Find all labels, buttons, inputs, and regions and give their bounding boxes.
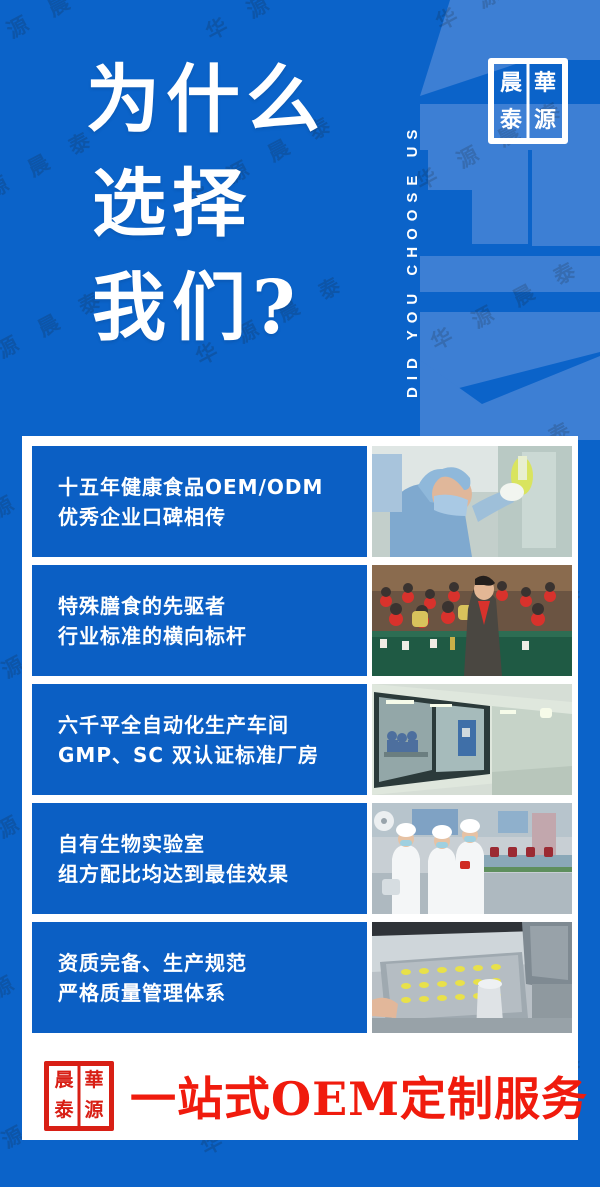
feature-card[interactable]: 特殊膳食的先驱者 行业标准的横向标杆: [32, 565, 572, 676]
hero-section: 为什么 选择 我们? DID YOU CHOOSE US 晨 華 泰 源: [0, 0, 600, 436]
feature-card-text: 资质完备、生产规范 严格质量管理体系: [32, 922, 367, 1033]
seal-char-chen: 晨: [494, 64, 528, 101]
seal-char-yuan: 源: [79, 1096, 109, 1126]
seal-char-hua: 華: [79, 1066, 109, 1096]
feature-card[interactable]: 自有生物实验室 组方配比均达到最佳效果: [32, 803, 572, 914]
feature-photo-conference-audience: [372, 565, 572, 676]
feature-line-2: 严格质量管理体系: [58, 978, 367, 1008]
feature-photo-blister-machine: [372, 922, 572, 1033]
feature-line-1: 六千平全自动化生产车间: [58, 710, 367, 740]
seal-char-tai: 泰: [49, 1096, 79, 1126]
feature-line-1: 资质完备、生产规范: [58, 948, 367, 978]
vertical-tagline: DID YOU CHOOSE US: [404, 18, 421, 398]
seal-char-hua: 華: [528, 64, 562, 101]
seal-char-yuan: 源: [528, 101, 562, 138]
seal-divider: [527, 64, 530, 138]
feature-photo-lab-technician: [372, 446, 572, 557]
poster-root: 华 源 晨 泰 华 源 晨 泰 华 源 晨 泰 华 源 晨 泰 华 源 晨 泰 …: [0, 0, 600, 1187]
feature-card[interactable]: 资质完备、生产规范 严格质量管理体系: [32, 922, 572, 1033]
page-title-line-2: 选择: [86, 152, 386, 256]
seal-char-tai: 泰: [494, 101, 528, 138]
feature-card-text: 十五年健康食品OEM/ODM 优秀企业口碑相传: [32, 446, 367, 557]
feature-line-1: 自有生物实验室: [58, 829, 367, 859]
page-title: 为什么 选择 我们?: [86, 48, 386, 360]
seal-divider: [78, 1066, 81, 1126]
page-title-line-3: 我们?: [86, 256, 386, 360]
feature-line-1: 十五年健康食品OEM/ODM: [58, 472, 367, 502]
feature-card[interactable]: 六千平全自动化生产车间 GMP、SC 双认证标准厂房: [32, 684, 572, 795]
feature-line-2: 优秀企业口碑相传: [58, 502, 367, 532]
feature-photo-clean-room: [372, 684, 572, 795]
seal-char-chen: 晨: [49, 1066, 79, 1096]
feature-line-2: 行业标准的横向标杆: [58, 621, 367, 651]
brand-seal-logo: 晨 華 泰 源: [488, 58, 568, 144]
bottom-banner: 晨 華 泰 源 一站式OEM定制服务: [22, 1051, 578, 1140]
feature-card-text: 六千平全自动化生产车间 GMP、SC 双认证标准厂房: [32, 684, 367, 795]
feature-card[interactable]: 十五年健康食品OEM/ODM 优秀企业口碑相传: [32, 446, 572, 557]
feature-line-1: 特殊膳食的先驱者: [58, 591, 367, 621]
brand-seal-logo-red: 晨 華 泰 源: [44, 1061, 114, 1131]
banner-headline: 一站式OEM定制服务: [130, 1063, 588, 1129]
feature-card-text: 特殊膳食的先驱者 行业标准的横向标杆: [32, 565, 367, 676]
feature-card-list: 十五年健康食品OEM/ODM 优秀企业口碑相传: [32, 446, 572, 1041]
page-title-line-1: 为什么: [86, 48, 386, 152]
feature-line-2: GMP、SC 双认证标准厂房: [58, 740, 367, 770]
feature-card-text: 自有生物实验室 组方配比均达到最佳效果: [32, 803, 367, 914]
feature-photo-packaging-line: [372, 803, 572, 914]
feature-line-2: 组方配比均达到最佳效果: [58, 859, 367, 889]
